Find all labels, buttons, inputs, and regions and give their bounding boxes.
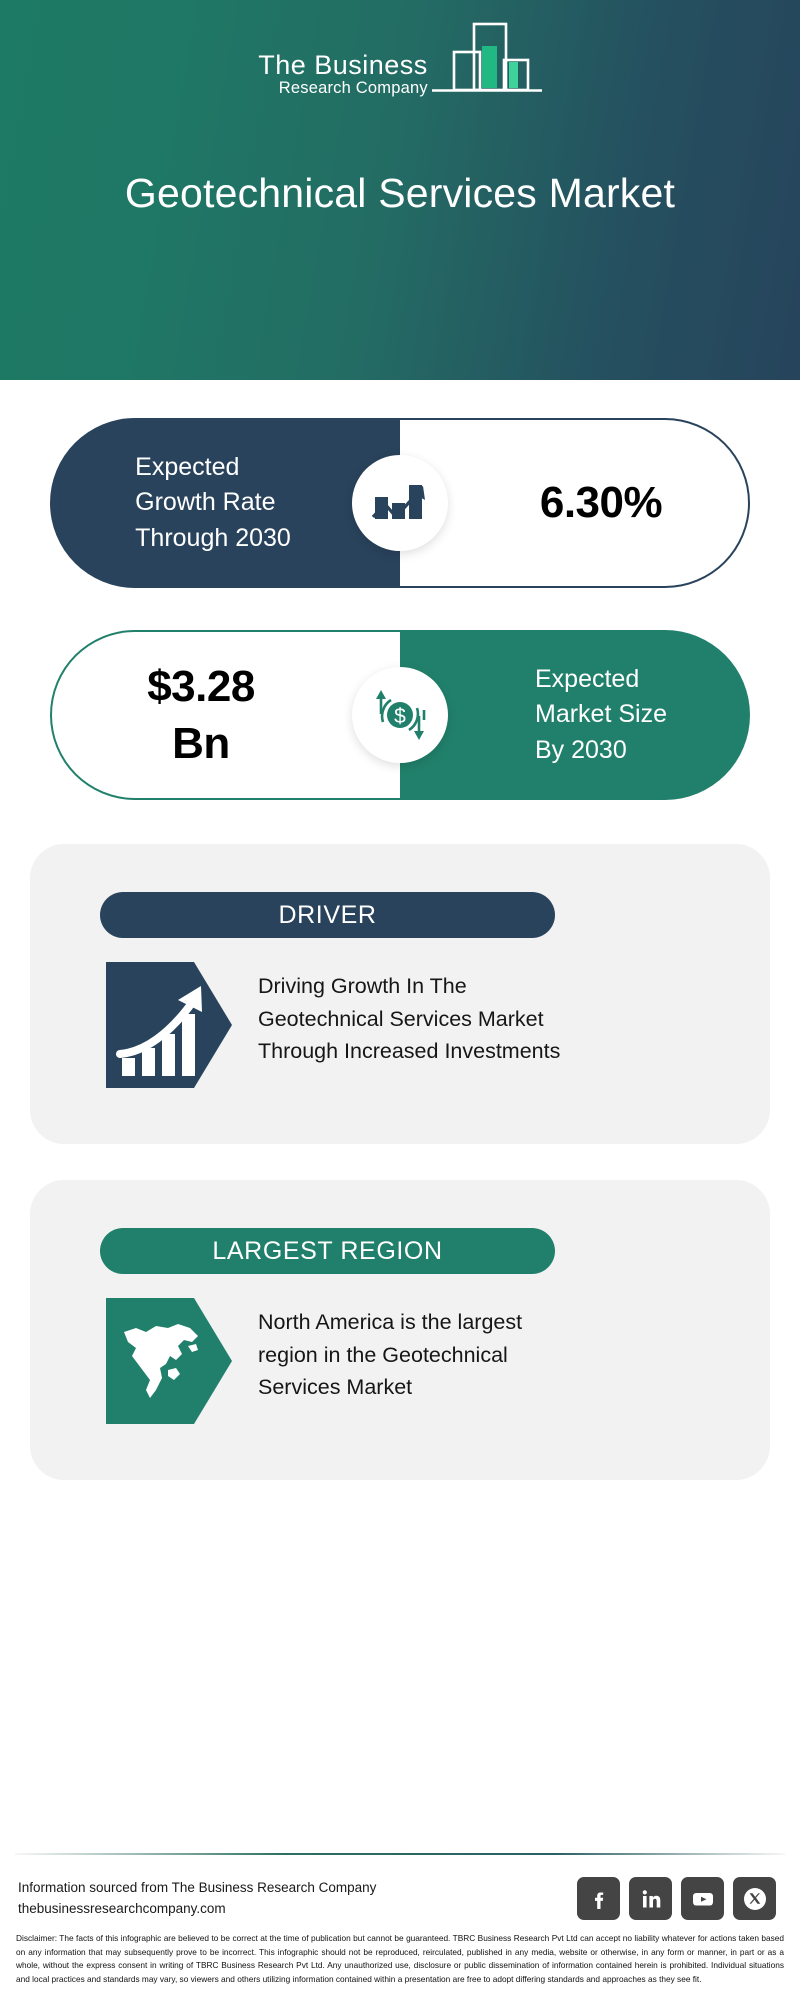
driver-text: Driving Growth In The Geotechnical Servi… [258,962,560,1068]
driver-panel: DRIVER Driving Growth In The Geotechnica… [30,844,770,1144]
stat-value-line: $3.28 [147,658,255,715]
growth-chart-arrow-icon [352,455,448,551]
company-logo: The Business Research Company [0,18,800,103]
stat-label-line: By 2030 [535,733,667,769]
driver-pill: DRIVER [100,892,555,938]
stat-label-text: Expected Growth Rate Through 2030 [99,450,351,557]
largest-region-body: North America is the largest region in t… [106,1298,720,1424]
social-links [577,1877,776,1920]
logo-title-line1: The Business [258,51,428,79]
stat-label-line: Market Size [535,697,667,733]
stat-card-market-size: $3.28 Bn Expected Market Size By 2030 $ [50,630,750,800]
footer-main: Information sourced from The Business Re… [0,1855,800,1930]
stat-label-panel: Expected Market Size By 2030 [400,630,750,800]
x-twitter-icon[interactable] [733,1877,776,1920]
stat-card-growth-rate: Expected Growth Rate Through 2030 6.30% [50,418,750,588]
largest-region-text-line: region in the Geotechnical [258,1339,522,1372]
stat-label-text: Expected Market Size By 2030 [463,662,687,769]
stat-value-growth-rate: 6.30% [486,474,662,531]
driver-pill-label: DRIVER [278,901,376,930]
bar-chart-logo-mark [432,18,542,103]
stat-label-line: Growth Rate [135,485,291,521]
largest-region-pill: LARGEST REGION [100,1228,555,1274]
stat-value-panel: 6.30% [400,418,750,588]
north-america-map-pentagon-icon [106,1298,232,1424]
largest-region-text-line: North America is the largest [258,1306,522,1339]
growth-bars-arrow-pentagon-icon [106,962,232,1088]
stat-value-market-size: $3.28 Bn [147,658,305,772]
footer: Information sourced from The Business Re… [0,1853,800,2000]
stat-label-panel: Expected Growth Rate Through 2030 [50,418,400,588]
svg-text:$: $ [394,705,406,728]
footer-source-line1: Information sourced from The Business Re… [18,1878,376,1899]
stat-label-line: Expected [135,450,291,486]
logo-title-line2: Research Company [258,79,428,99]
driver-text-line: Through Increased Investments [258,1035,560,1068]
linkedin-icon[interactable] [629,1877,672,1920]
disclaimer-text: Disclaimer: The facts of this infographi… [0,1930,800,2000]
largest-region-pill-label: LARGEST REGION [212,1237,442,1266]
infographic-page: The Business Research Company [0,0,800,2000]
driver-text-line: Geotechnical Services Market [258,1003,560,1036]
largest-region-panel: LARGEST REGION North America is the larg… [30,1180,770,1480]
driver-body: Driving Growth In The Geotechnical Servi… [106,962,720,1088]
stat-value-panel: $3.28 Bn [50,630,400,800]
driver-text-line: Driving Growth In The [258,970,560,1003]
dollar-cycle-icon: $ [352,667,448,763]
stat-cards: Expected Growth Rate Through 2030 6.30% [0,418,800,800]
footer-website-link[interactable]: thebusinessresearchcompany.com [18,1899,376,1920]
footer-source: Information sourced from The Business Re… [18,1878,376,1920]
largest-region-text: North America is the largest region in t… [258,1298,522,1404]
largest-region-text-line: Services Market [258,1371,522,1404]
stat-label-line: Through 2030 [135,521,291,557]
stat-label-line: Expected [535,662,667,698]
page-title: Geotechnical Services Market [0,170,800,217]
header-banner: The Business Research Company [0,0,800,380]
youtube-icon[interactable] [681,1877,724,1920]
stat-value-line: Bn [147,715,255,772]
facebook-icon[interactable] [577,1877,620,1920]
